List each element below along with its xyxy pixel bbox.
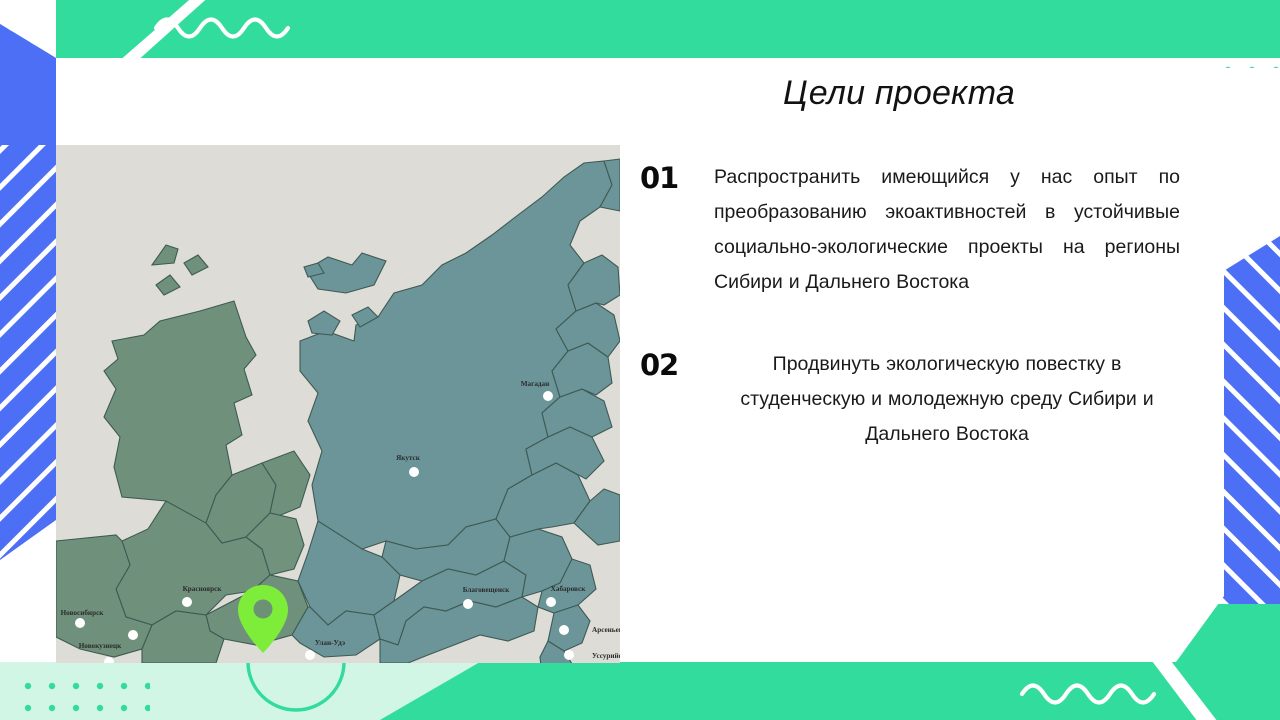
goal-item: 01 Распространить имеющийся у нас опыт п…	[640, 160, 1180, 299]
goal-text: Распространить имеющийся у нас опыт по п…	[714, 160, 1180, 299]
goal-number: 01	[640, 160, 714, 195]
map-city-label: Якутск	[396, 454, 421, 462]
map-city-label: Арсеньевск	[592, 626, 620, 634]
map-city-dot[interactable]	[128, 630, 138, 640]
left-blue-panel	[0, 24, 56, 560]
arc-top-right	[932, 10, 1028, 58]
goal-number: 02	[640, 347, 714, 382]
wave-line-bottom	[1022, 686, 1154, 703]
content-column: Цели проекта 01 Распространить имеющийся…	[640, 75, 1180, 615]
russia-map[interactable]: НовосибирскНовокузнецкБарнаулКрасноярскУ…	[56, 145, 620, 663]
map-city-dot[interactable]	[75, 618, 85, 628]
goals-list: 01 Распространить имеющийся у нас опыт п…	[640, 160, 1180, 451]
goal-item: 02 Продвинуть экологическую повестку в с…	[640, 347, 1180, 451]
map-city-label: Благовещенск	[463, 586, 510, 594]
arc-bottom-left	[248, 662, 344, 710]
top-diagonal-slash	[118, 0, 212, 62]
map-city-dot[interactable]	[463, 599, 473, 609]
map-city-label: Уссурийск	[592, 652, 620, 660]
map-city-label: Новосибирск	[61, 609, 105, 617]
map-city-dot[interactable]	[543, 391, 553, 401]
map-city-label: Новокузнецк	[79, 642, 122, 650]
dot-grid-bottom-left	[12, 672, 150, 720]
page-title: Цели проекта	[640, 75, 1180, 112]
map-city-label: Магадан	[521, 380, 550, 388]
right-blue-panel	[1222, 236, 1280, 662]
map-city-dot[interactable]	[409, 467, 419, 477]
top-green-band	[0, 0, 1280, 58]
map-city-dot[interactable]	[182, 597, 192, 607]
map-city-dot[interactable]	[305, 650, 315, 660]
goal-text: Продвинуть экологическую повестку в студ…	[714, 347, 1180, 451]
slide: НовосибирскНовокузнецкБарнаулКрасноярскУ…	[0, 0, 1280, 720]
map-city-label: Хабаровск	[551, 585, 587, 593]
map-city-label: Красноярск	[183, 585, 223, 593]
map-city-dot[interactable]	[546, 597, 556, 607]
map-city-label: Улан-Удэ	[315, 639, 345, 647]
map-city-dot[interactable]	[559, 625, 569, 635]
map-city-dot[interactable]	[564, 650, 574, 660]
wave-line-top	[156, 20, 288, 37]
